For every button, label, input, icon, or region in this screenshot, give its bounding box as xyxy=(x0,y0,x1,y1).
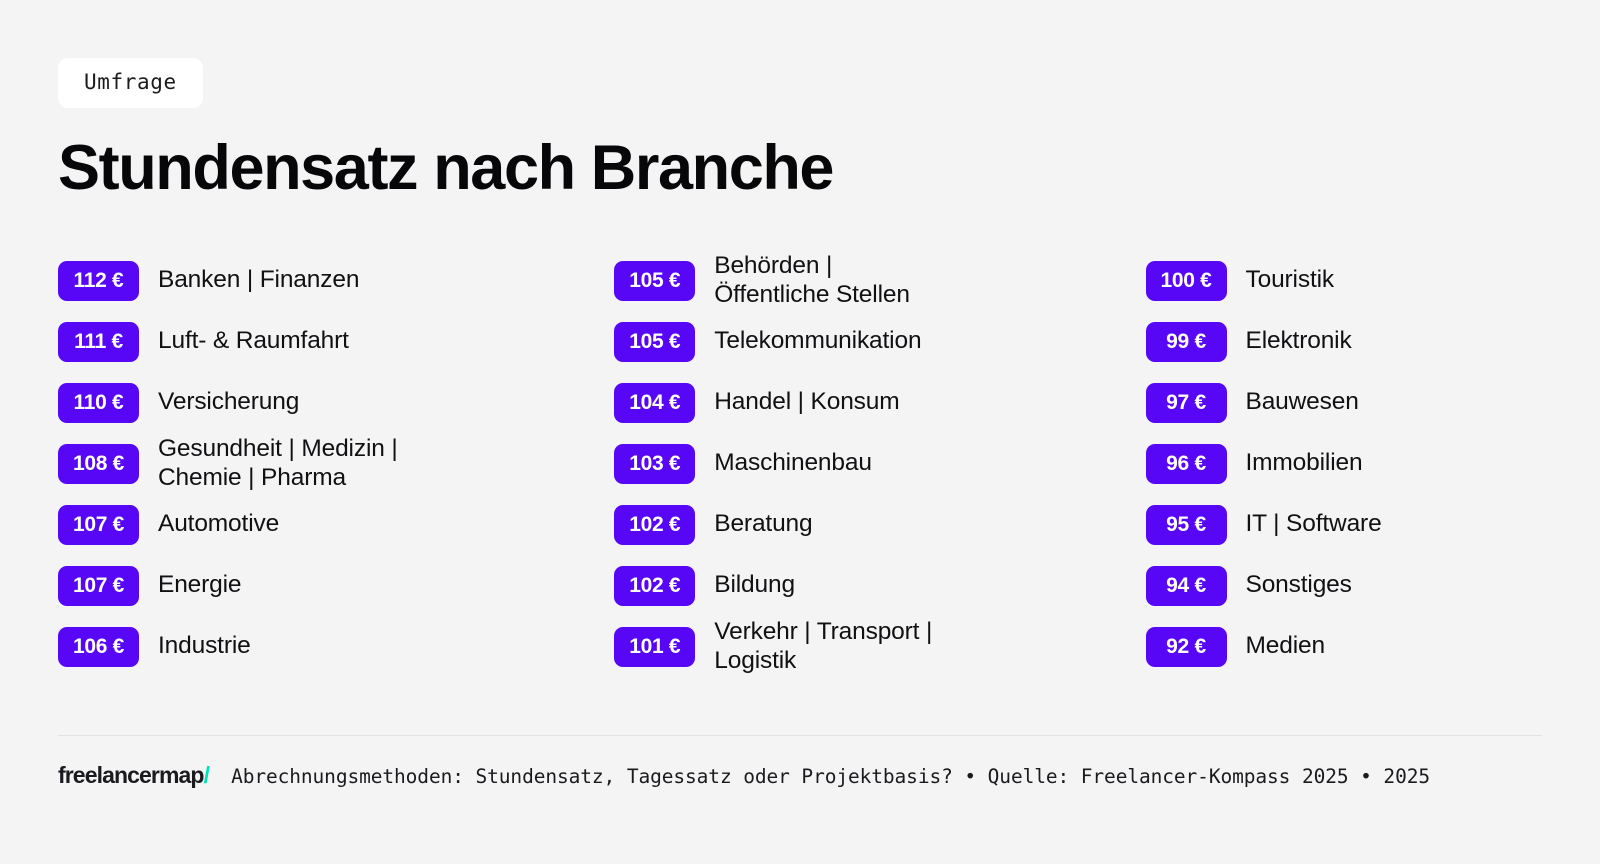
rate-row: 105 € Telekommunikation xyxy=(614,311,1145,372)
rate-label: Energie xyxy=(158,571,241,600)
rate-label: Banken | Finanzen xyxy=(158,266,359,295)
rate-row: 110 € Versicherung xyxy=(58,372,614,433)
rate-label: Handel | Konsum xyxy=(714,388,899,417)
freelancermap-logo: freelancermap/ xyxy=(58,762,209,789)
rate-label: Gesundheit | Medizin | Chemie | Pharma xyxy=(158,435,398,493)
eyebrow-badge: Umfrage xyxy=(58,58,203,108)
rate-row: 104 € Handel | Konsum xyxy=(614,372,1145,433)
rate-row: 102 € Bildung xyxy=(614,555,1145,616)
rate-value-badge: 102 € xyxy=(614,566,695,606)
rate-value-badge: 103 € xyxy=(614,444,695,484)
rate-label: Versicherung xyxy=(158,388,299,417)
page-title: Stundensatz nach Branche xyxy=(58,135,1542,201)
rate-value-badge: 112 € xyxy=(58,261,139,301)
rate-label: Elektronik xyxy=(1246,327,1352,356)
logo-slash-icon: / xyxy=(204,762,210,788)
rate-row: 97 € Bauwesen xyxy=(1146,372,1543,433)
rate-label: Luft- & Raumfahrt xyxy=(158,327,349,356)
rate-label: Telekommunikation xyxy=(714,327,921,356)
rate-columns: 112 € Banken | Finanzen 111 € Luft- & Ra… xyxy=(58,250,1542,677)
rate-row: 111 € Luft- & Raumfahrt xyxy=(58,311,614,372)
rate-row: 107 € Automotive xyxy=(58,494,614,555)
rate-value-badge: 104 € xyxy=(614,383,695,423)
rate-row: 94 € Sonstiges xyxy=(1146,555,1543,616)
rate-value-badge: 99 € xyxy=(1146,322,1227,362)
rate-row: 99 € Elektronik xyxy=(1146,311,1543,372)
rate-label: Behörden | Öffentliche Stellen xyxy=(714,252,910,310)
rate-value-badge: 94 € xyxy=(1146,566,1227,606)
footer-source-text: Abrechnungsmethoden: Stundensatz, Tagess… xyxy=(231,765,1430,788)
rate-label: Immobilien xyxy=(1246,449,1363,478)
rate-row: 107 € Energie xyxy=(58,555,614,616)
rate-row: 96 € Immobilien xyxy=(1146,433,1543,494)
rate-row: 95 € IT | Software xyxy=(1146,494,1543,555)
rate-label: Verkehr | Transport | Logistik xyxy=(714,618,932,676)
rate-column-3: 100 € Touristik 99 € Elektronik 97 € Bau… xyxy=(1146,250,1543,677)
rate-value-badge: 100 € xyxy=(1146,261,1227,301)
footer-divider xyxy=(58,735,1542,736)
rate-column-1: 112 € Banken | Finanzen 111 € Luft- & Ra… xyxy=(58,250,614,677)
rate-value-badge: 111 € xyxy=(58,322,139,362)
rate-label: Beratung xyxy=(714,510,812,539)
rate-value-badge: 97 € xyxy=(1146,383,1227,423)
rate-value-badge: 108 € xyxy=(58,444,139,484)
rate-row: 102 € Beratung xyxy=(614,494,1145,555)
rate-row: 112 € Banken | Finanzen xyxy=(58,250,614,311)
rate-value-badge: 105 € xyxy=(614,322,695,362)
logo-wordmark: freelancermap xyxy=(58,762,204,788)
header: Umfrage Stundensatz nach Branche xyxy=(58,0,1542,201)
rate-value-badge: 102 € xyxy=(614,505,695,545)
rate-value-badge: 95 € xyxy=(1146,505,1227,545)
rate-label: Bildung xyxy=(714,571,795,600)
rate-row: 101 € Verkehr | Transport | Logistik xyxy=(614,616,1145,677)
rate-value-badge: 101 € xyxy=(614,627,695,667)
footer: freelancermap/ Abrechnungsmethoden: Stun… xyxy=(58,762,1542,789)
rate-value-badge: 105 € xyxy=(614,261,695,301)
infographic-root: Umfrage Stundensatz nach Branche 112 € B… xyxy=(0,0,1600,864)
rate-value-badge: 107 € xyxy=(58,505,139,545)
rate-label: Maschinenbau xyxy=(714,449,872,478)
rate-label: Medien xyxy=(1246,632,1325,661)
rate-row: 103 € Maschinenbau xyxy=(614,433,1145,494)
rate-value-badge: 96 € xyxy=(1146,444,1227,484)
rate-label: Bauwesen xyxy=(1246,388,1359,417)
rate-label: Touristik xyxy=(1246,266,1335,295)
rate-row: 105 € Behörden | Öffentliche Stellen xyxy=(614,250,1145,311)
rate-value-badge: 110 € xyxy=(58,383,139,423)
rate-label: Automotive xyxy=(158,510,279,539)
rate-row: 106 € Industrie xyxy=(58,616,614,677)
rate-value-badge: 107 € xyxy=(58,566,139,606)
rate-label: Industrie xyxy=(158,632,251,661)
rate-row: 108 € Gesundheit | Medizin | Chemie | Ph… xyxy=(58,433,614,494)
rate-label: IT | Software xyxy=(1246,510,1382,539)
rate-value-badge: 92 € xyxy=(1146,627,1227,667)
rate-row: 92 € Medien xyxy=(1146,616,1543,677)
rate-row: 100 € Touristik xyxy=(1146,250,1543,311)
rate-column-2: 105 € Behörden | Öffentliche Stellen 105… xyxy=(614,250,1145,677)
rate-value-badge: 106 € xyxy=(58,627,139,667)
rate-label: Sonstiges xyxy=(1246,571,1352,600)
